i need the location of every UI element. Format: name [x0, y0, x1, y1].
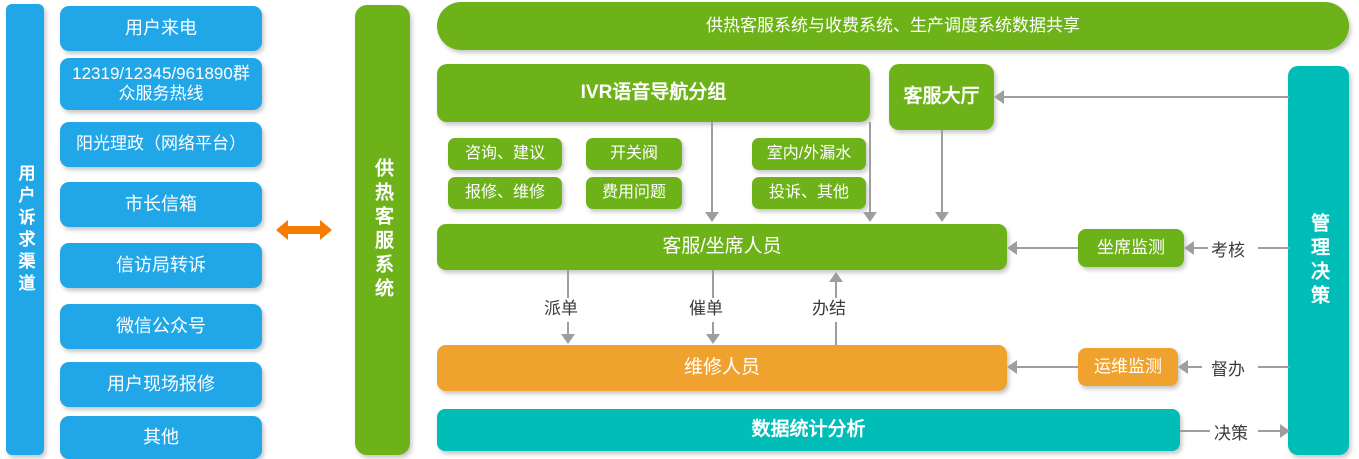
repair-bar-label: 维修人员: [684, 357, 760, 380]
ivr-group-box: IVR语音导航分组: [437, 64, 870, 122]
service-hall-label: 客服大厅: [903, 86, 979, 109]
flow-label-urge: 催单: [689, 294, 723, 319]
flow-label-dispatch: 派单: [544, 294, 578, 319]
agents-bar-label: 客服/坐席人员: [662, 236, 781, 259]
ivr-category-valve-label: 开关阀: [610, 144, 658, 163]
channel-item-7[interactable]: 其他: [60, 416, 262, 459]
ops-monitor-chip[interactable]: 运维监测: [1078, 348, 1178, 386]
connector-complete-lower: [835, 322, 837, 345]
channel-item-0-label: 用户来电: [125, 18, 197, 40]
connector-seatmonitor-to-agents: [1017, 247, 1078, 249]
channel-item-6-label: 用户现场报修: [107, 374, 215, 396]
arrow-management-to-hall: [994, 90, 1004, 104]
connector-ivr-to-agents: [711, 122, 713, 214]
ivr-category-leak-label: 室内/外漏水: [767, 144, 851, 163]
arrow-complete: [829, 272, 843, 282]
bidirectional-exchange-icon: [276, 215, 332, 245]
connector-opsmonitor-to-repair: [1017, 366, 1078, 368]
channel-item-4-label: 信访局转诉: [116, 255, 206, 277]
connector-hall-to-agents: [941, 130, 943, 214]
channel-item-2-label: 阳光理政（网络平台）: [76, 134, 246, 154]
connector-supervision-right: [1258, 366, 1290, 368]
repair-bar: 维修人员: [437, 345, 1007, 391]
channel-item-4[interactable]: 信访局转诉: [60, 243, 262, 288]
flow-label-supervision: 督办: [1211, 355, 1245, 380]
channel-item-1[interactable]: 12319/12345/961890群众服务热线: [60, 58, 262, 110]
flow-label-complete: 办结: [812, 294, 846, 319]
ivr-category-consult[interactable]: 咨询、建议: [448, 138, 562, 170]
channel-item-1-label: 12319/12345/961890群众服务热线: [64, 64, 258, 105]
connector-assessment-left: [1194, 247, 1208, 249]
connector-assessment-right: [1258, 247, 1290, 249]
arrow-urge: [706, 334, 720, 344]
ivr-category-complaint-label: 投诉、其他: [769, 183, 849, 202]
seat-monitor-chip[interactable]: 坐席监测: [1078, 229, 1184, 267]
arrow-assessment: [1184, 241, 1194, 255]
service-hall-box: 客服大厅: [889, 64, 994, 130]
ivr-category-fee-label: 费用问题: [602, 183, 666, 202]
seat-monitor-label: 坐席监测: [1097, 238, 1165, 258]
analytics-bar: 数据统计分析: [437, 409, 1180, 451]
ivr-group-label: IVR语音导航分组: [581, 82, 727, 105]
banner-data-sharing-label: 供热客服系统与收费系统、生产调度系统数据共享: [706, 16, 1080, 36]
ivr-category-complaint[interactable]: 投诉、其他: [752, 177, 866, 209]
arrow-ivr-right-to-agents: [863, 212, 877, 222]
flow-label-assessment: 考核: [1211, 236, 1245, 261]
ivr-category-fee[interactable]: 费用问题: [586, 177, 682, 209]
rail-user-channels: 用户诉求渠道: [6, 4, 44, 455]
arrow-dispatch: [561, 334, 575, 344]
channel-item-5[interactable]: 微信公众号: [60, 304, 262, 349]
ivr-category-repair[interactable]: 报修、维修: [448, 177, 562, 209]
diagram-canvas: 用户诉求渠道 用户来电 12319/12345/961890群众服务热线 阳光理…: [0, 0, 1359, 459]
ivr-category-consult-label: 咨询、建议: [465, 144, 545, 163]
ivr-category-repair-label: 报修、维修: [465, 183, 545, 202]
connector-ivr-right-to-agents: [869, 122, 871, 214]
connector-supervision-left: [1188, 366, 1202, 368]
channel-item-5-label: 微信公众号: [116, 316, 206, 338]
channel-item-6[interactable]: 用户现场报修: [60, 362, 262, 407]
channel-item-3[interactable]: 市长信箱: [60, 182, 262, 227]
arrow-hall-to-agents: [935, 212, 949, 222]
analytics-bar-label: 数据统计分析: [751, 419, 865, 442]
ivr-category-valve[interactable]: 开关阀: [586, 138, 682, 170]
arrow-ivr-to-agents: [705, 212, 719, 222]
arrow-seatmonitor-to-agents: [1007, 241, 1017, 255]
rail-heating-service-system-label: 供热客服系统: [369, 158, 396, 302]
rail-management-decision: 管理决策: [1288, 66, 1349, 455]
arrow-decision: [1280, 424, 1290, 438]
channel-item-7-label: 其他: [143, 427, 179, 449]
channel-item-0[interactable]: 用户来电: [60, 6, 262, 51]
agents-bar: 客服/坐席人员: [437, 224, 1007, 270]
ivr-category-leak[interactable]: 室内/外漏水: [752, 138, 866, 170]
channel-item-3-label: 市长信箱: [125, 194, 197, 216]
connector-decision-right: [1258, 430, 1280, 432]
banner-data-sharing: 供热客服系统与收费系统、生产调度系统数据共享: [437, 2, 1349, 50]
channel-item-2[interactable]: 阳光理政（网络平台）: [60, 122, 262, 167]
flow-label-decision: 决策: [1214, 419, 1248, 444]
rail-heating-service-system: 供热客服系统: [355, 5, 410, 455]
connector-decision-left: [1180, 430, 1210, 432]
rail-management-decision-label: 管理决策: [1305, 213, 1332, 309]
arrow-opsmonitor-to-repair: [1007, 360, 1017, 374]
ops-monitor-label: 运维监测: [1094, 357, 1162, 377]
connector-management-to-hall: [1004, 96, 1289, 98]
rail-user-channels-label: 用户诉求渠道: [13, 164, 38, 296]
arrow-supervision: [1178, 360, 1188, 374]
